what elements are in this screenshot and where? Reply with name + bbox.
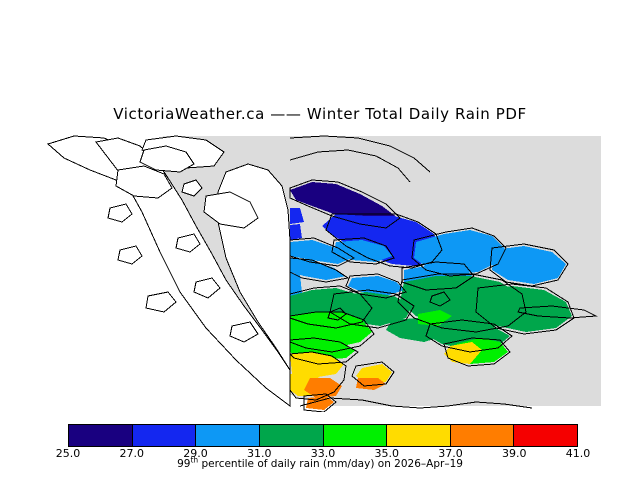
colorbar-segment-6[interactable]	[451, 425, 515, 446]
page-title: VictoriaWeather.ca —— Winter Total Daily…	[0, 105, 640, 123]
colorbar-segment-1[interactable]	[133, 425, 197, 446]
colorbar[interactable]	[68, 424, 578, 447]
map-canvas[interactable]	[0, 130, 640, 412]
colorbar-strip[interactable]	[68, 424, 578, 447]
colorbar-segment-0[interactable]	[69, 425, 133, 446]
colorbar-segment-4[interactable]	[324, 425, 388, 446]
caption-prefix: 99	[177, 458, 190, 470]
colorbar-segment-2[interactable]	[196, 425, 260, 446]
colorbar-segment-7[interactable]	[514, 425, 577, 446]
caption-superscript: th	[190, 456, 198, 465]
map-panel[interactable]	[0, 130, 640, 412]
caption-suffix: percentile of daily rain (mm/day) on 202…	[198, 458, 463, 470]
contour-region-27-29-strip	[290, 224, 302, 240]
colorbar-segment-3[interactable]	[260, 425, 324, 446]
colorbar-segment-5[interactable]	[387, 425, 451, 446]
colorbar-caption: 99th percentile of daily rain (mm/day) o…	[0, 458, 640, 470]
